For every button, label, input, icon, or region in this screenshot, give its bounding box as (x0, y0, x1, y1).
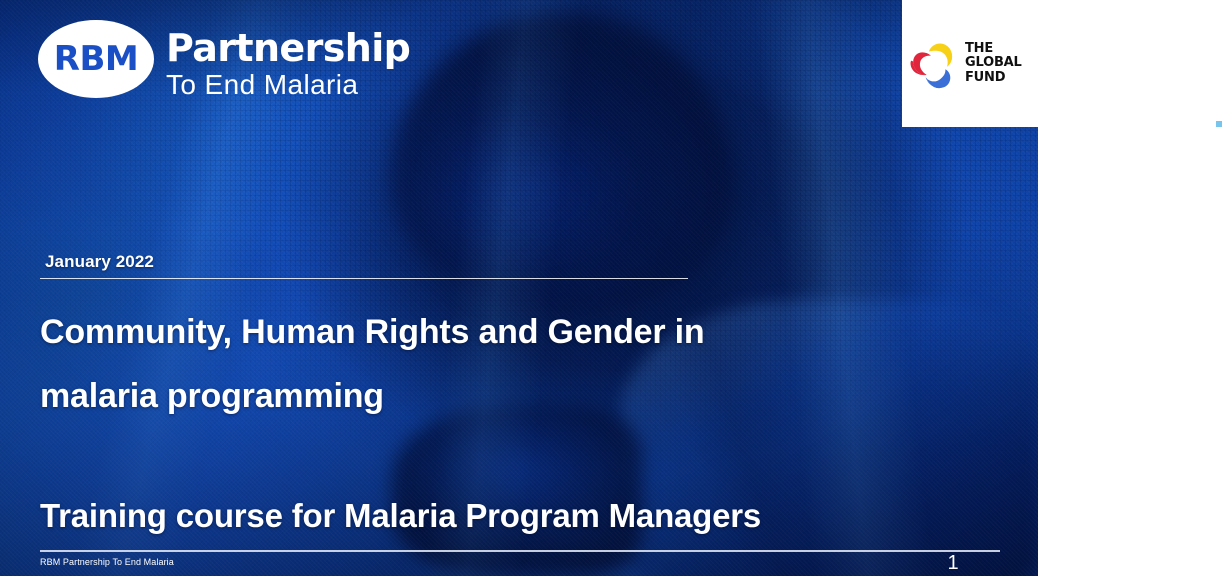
slide-page-number: 1 (930, 552, 976, 575)
slide-subtitle: Training course for Malaria Program Mana… (40, 498, 900, 534)
margin-artifact-dot (1216, 121, 1222, 127)
date-divider (40, 278, 688, 279)
slide-page: RBM Partnership To End Malaria (0, 0, 1223, 576)
global-fund-line-3: FUND (965, 71, 1022, 85)
rbm-logo-name: Partnership (166, 29, 410, 68)
footer-divider (40, 550, 1000, 552)
rbm-logo-wordmark: Partnership To End Malaria (166, 29, 410, 101)
global-fund-logo-box: THE GLOBAL FUND (902, 0, 1038, 127)
global-fund-pinwheel-icon (908, 38, 960, 90)
global-fund-line-2: GLOBAL (965, 56, 1022, 70)
footer-organization-label: RBM Partnership To End Malaria (40, 557, 174, 567)
date-block: January 2022 (40, 252, 688, 279)
rbm-partnership-logo: RBM Partnership To End Malaria (38, 20, 410, 101)
title-slide: RBM Partnership To End Malaria (0, 0, 1038, 576)
rbm-oval-badge: RBM (38, 20, 154, 98)
slide-title: Community, Human Rights and Gender in ma… (40, 300, 760, 428)
rbm-logo-tagline: To End Malaria (166, 69, 410, 101)
slide-date: January 2022 (40, 252, 688, 272)
global-fund-logo: THE GLOBAL FUND (908, 38, 1022, 90)
global-fund-wordmark: THE GLOBAL FUND (965, 42, 1022, 84)
rbm-mark-label: RBM (54, 42, 138, 76)
global-fund-line-1: THE (965, 42, 1022, 56)
